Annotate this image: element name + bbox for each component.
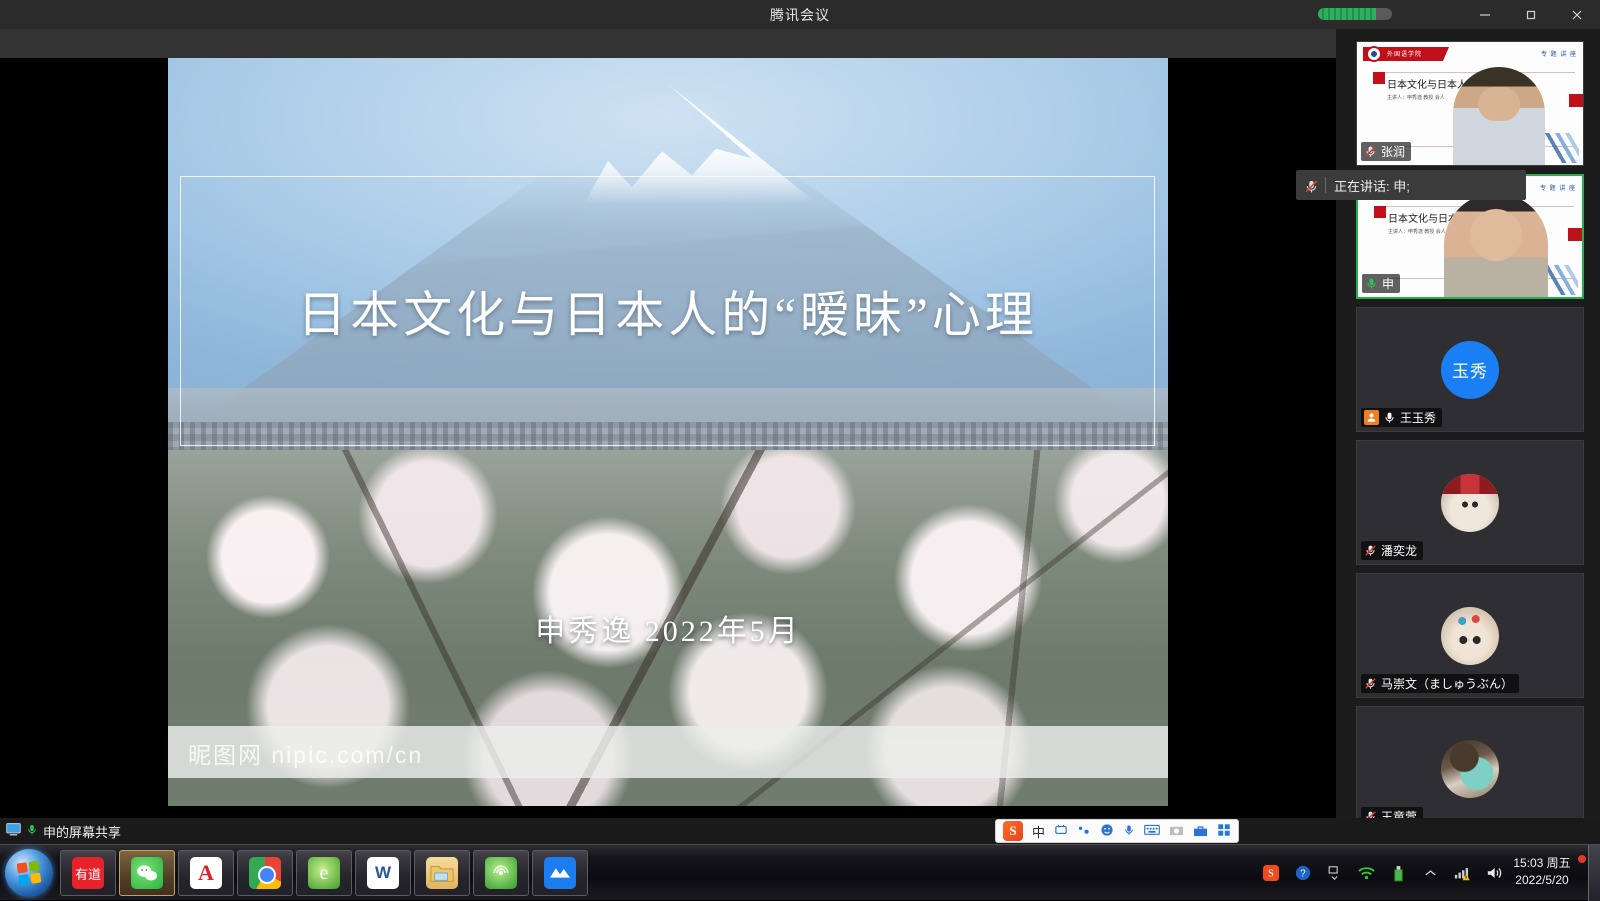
symbol-icon[interactable] <box>1077 824 1091 838</box>
taskbar-item-broadcast-app[interactable] <box>473 850 529 896</box>
screen-share-icon <box>6 823 21 839</box>
mic-muted-icon <box>1364 677 1377 690</box>
slide-title-frame: 日本文化与日本人的“暧昧”心理 <box>180 176 1155 446</box>
taskbar-clock[interactable]: 15:03 周五 2022/5/20 <box>1510 855 1574 889</box>
speaking-toast-text: 正在讲话: 申; <box>1334 176 1410 195</box>
ppt-red-square-right <box>1569 94 1583 107</box>
participant-name: 张润 <box>1381 143 1405 160</box>
ppt-logo-icon <box>1366 46 1382 62</box>
mic-active-icon <box>1383 411 1396 424</box>
word-icon: W <box>367 857 399 889</box>
participant-rail[interactable]: 外国语学院 专 题 讲 座 日本文化与日本人的“暧昧”心理 主讲人：申秀逸 教授… <box>1336 29 1600 818</box>
avatar <box>1441 607 1499 665</box>
svg-text:?: ? <box>1300 869 1306 880</box>
taskbar-item-adobe-acrobat[interactable]: A <box>178 850 234 896</box>
screenshot-icon[interactable] <box>1169 824 1184 839</box>
help-icon[interactable]: ? <box>1293 864 1312 883</box>
taskbar-item-wechat[interactable] <box>119 850 175 896</box>
speaking-toast: 正在讲话: 申; <box>1296 170 1526 200</box>
mic-muted-icon <box>1304 179 1317 192</box>
participant-tile[interactable]: 玉秀 王玉秀 <box>1356 307 1584 432</box>
secondary-toolbar <box>0 29 1336 58</box>
ppt-red-square <box>1374 206 1386 218</box>
participant-tile[interactable]: 马崇文（ましゅうぶん） <box>1356 573 1584 698</box>
show-desktop-button[interactable] <box>1588 845 1600 901</box>
taskbar-items: 有道 A e W <box>60 850 588 896</box>
audio-level-fill <box>1318 8 1376 20</box>
taskbar-item-microsoft-word[interactable]: W <box>355 850 411 896</box>
participant-nameplate: 张润 <box>1361 142 1411 161</box>
sogou-logo-icon[interactable]: S <box>1003 821 1023 841</box>
mic-muted-icon <box>1364 544 1377 557</box>
sogou-icon[interactable]: S <box>1261 864 1280 883</box>
mic-muted-icon <box>1364 145 1377 158</box>
chrome-icon <box>249 857 281 889</box>
participant-webcam-person <box>1453 67 1545 165</box>
participant-nameplate: 王玉秀 <box>1361 408 1442 427</box>
folder-icon <box>426 857 458 889</box>
ppt-corner-text: 专 题 讲 座 <box>1541 49 1577 58</box>
ppt-slide-sub: 主讲人：申秀逸 教授 会人 <box>1387 94 1445 101</box>
audio-level-meter <box>1318 8 1392 20</box>
windows-logo-icon <box>17 861 42 886</box>
screen-share-label: 申的屏幕共享 <box>43 822 121 841</box>
network-warning-icon[interactable] <box>1453 864 1472 883</box>
ppt-red-square-right <box>1568 228 1582 241</box>
tray-alert-dot <box>1578 855 1586 863</box>
punctuation-icon[interactable] <box>1054 824 1068 838</box>
screen-share-status: 申的屏幕共享 <box>6 821 121 841</box>
ie-icon: e <box>308 857 340 889</box>
slide-title: 日本文化与日本人的“暧昧”心理 <box>181 276 1154 347</box>
participant-name: 潘奕龙 <box>1381 542 1417 559</box>
ime-mode-toggle[interactable]: 中 <box>1032 822 1045 841</box>
participant-tile[interactable]: 外国语学院 专 题 讲 座 日本文化与日本人的“暧昧”心理 主讲人：申秀逸 教授… <box>1356 41 1584 166</box>
ppt-corner-text: 专 题 讲 座 <box>1540 183 1576 192</box>
clock-time: 15:03 周五 <box>1510 855 1574 872</box>
watermark-text: 昵图网 nipic.com/cn <box>188 736 423 770</box>
window-title-bar: 腾讯会议 <box>0 0 1600 29</box>
tencent-meeting-icon <box>544 857 576 889</box>
slide-presenter-line: 申秀逸 2022年5月 <box>168 606 1168 650</box>
acrobat-icon: A <box>190 857 222 889</box>
voice-input-icon[interactable] <box>1123 823 1135 839</box>
clock-date: 2022/5/20 <box>1510 872 1574 889</box>
broadcast-icon <box>485 857 517 889</box>
avatar <box>1441 474 1499 532</box>
host-badge-icon <box>1364 410 1379 425</box>
svg-text:S: S <box>1268 869 1274 880</box>
usb-icon[interactable] <box>1389 864 1408 883</box>
maximize-button[interactable] <box>1508 0 1554 29</box>
toolbox-icon[interactable] <box>1193 824 1208 839</box>
window-switch-icon[interactable] <box>1325 864 1344 883</box>
wifi-icon[interactable] <box>1357 864 1376 883</box>
ppt-ribbon-text: 外国语学院 <box>1387 49 1422 58</box>
taskbar-item-file-explorer[interactable] <box>414 850 470 896</box>
taskbar-item-tencent-meeting[interactable] <box>532 850 588 896</box>
ime-toolbar[interactable]: S 中 <box>995 819 1239 843</box>
taskbar-item-google-chrome[interactable] <box>237 850 293 896</box>
mic-active-icon <box>26 823 38 839</box>
ppt-red-square <box>1373 72 1385 84</box>
participant-name: 王玉秀 <box>1400 409 1436 426</box>
emoji-icon[interactable] <box>1100 823 1114 839</box>
show-hidden-icon[interactable] <box>1421 864 1440 883</box>
close-button[interactable] <box>1554 0 1600 29</box>
system-tray: S ? <box>1261 845 1504 901</box>
shared-slide: 日本文化与日本人的“暧昧”心理 申秀逸 2022年5月 昵图网 nipic.co… <box>168 58 1168 806</box>
participant-name: 申 <box>1382 275 1394 292</box>
participant-name: 马崇文（ましゅうぶん） <box>1381 675 1513 692</box>
wechat-icon <box>131 857 163 889</box>
participant-nameplate: 马崇文（ましゅうぶん） <box>1361 674 1519 693</box>
avatar <box>1441 740 1499 798</box>
ppt-slide-sub: 主讲人：申秀逸 教授 会人 <box>1388 228 1446 235</box>
screen-share-bar: 申的屏幕共享 <box>0 818 1600 844</box>
mic-active-icon <box>1365 277 1378 290</box>
shared-screen-stage: 日本文化与日本人的“暧昧”心理 申秀逸 2022年5月 昵图网 nipic.co… <box>0 58 1336 818</box>
taskbar-item-youdao-dict[interactable]: 有道 <box>60 850 116 896</box>
participant-webcam-person <box>1444 193 1548 297</box>
participant-tile[interactable]: 潘奕龙 <box>1356 440 1584 565</box>
avatar: 玉秀 <box>1441 341 1499 399</box>
soft-keyboard-icon[interactable] <box>1144 824 1160 838</box>
taskbar-item-ie-browser[interactable]: e <box>296 850 352 896</box>
participant-nameplate: 申 <box>1362 274 1400 293</box>
apps-icon[interactable] <box>1217 823 1231 839</box>
minimize-button[interactable] <box>1462 0 1508 29</box>
window-controls <box>1462 0 1600 29</box>
youdao-icon: 有道 <box>72 857 104 889</box>
participant-tile[interactable]: 王童萱 <box>1356 706 1584 831</box>
avatar-initials: 玉秀 <box>1452 357 1488 382</box>
windows-taskbar: 有道 A e W <box>0 844 1600 900</box>
toast-divider <box>1325 177 1326 193</box>
volume-icon[interactable] <box>1485 864 1504 883</box>
start-button[interactable] <box>5 849 53 897</box>
participant-nameplate: 潘奕龙 <box>1361 541 1423 560</box>
